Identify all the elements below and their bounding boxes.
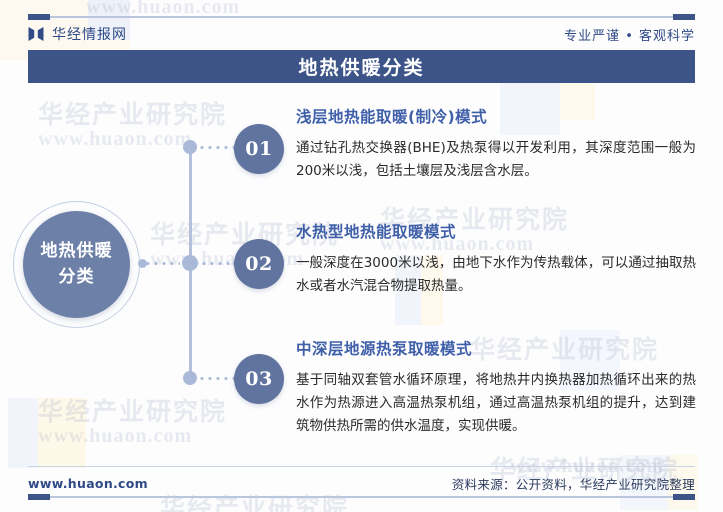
- slide-page: www.huaon.com 华经产业研究院 www.huaon.com 华经产业…: [0, 0, 723, 512]
- hub-circle: 地热供暖 分类: [23, 211, 130, 318]
- connector-dotted-line: [198, 146, 236, 149]
- connector-node: [183, 371, 197, 385]
- hub-label-line1: 地热供暖: [41, 239, 113, 265]
- item-block-02: 水热型地热能取暖模式 一般深度在3000米以浅，由地下水作为传热载体，可以通过抽…: [296, 220, 696, 298]
- diagram: 地热供暖 分类 01 02 03 浅层地热能取暖(制冷)模式 通过钻孔热交换器(…: [0, 83, 723, 458]
- item-title: 水热型地热能取暖模式: [296, 220, 696, 242]
- hub-label-line2: 分类: [59, 265, 95, 291]
- connector-dotted-line: [198, 377, 236, 380]
- brand: 华经情报网: [28, 24, 127, 44]
- title-band: 地热供暖分类: [28, 50, 695, 83]
- item-block-01: 浅层地热能取暖(制冷)模式 通过钻孔热交换器(BHE)及热泵得以开发利用，其深度…: [296, 105, 696, 183]
- page-title: 地热供暖分类: [298, 53, 424, 80]
- footer-site-url[interactable]: www.huaon.com: [28, 476, 148, 491]
- item-title: 中深层地源热泵取暖模式: [296, 337, 696, 359]
- bowtie-logo-icon: [28, 26, 44, 42]
- connector-dotted-line: [144, 262, 180, 265]
- item-body: 一般深度在3000米以浅，由地下水作为传热载体，可以通过抽取热水或者水汽混合物提…: [296, 252, 696, 298]
- item-number-badge-03: 03: [234, 354, 284, 404]
- bottom-divider: [28, 496, 695, 498]
- top-divider: [28, 16, 695, 18]
- item-number-badge-01: 01: [234, 124, 284, 174]
- connector-node: [183, 140, 197, 154]
- item-block-03: 中深层地源热泵取暖模式 基于同轴双套管水循环原理，将地热井内换热器加热循环出来的…: [296, 337, 696, 439]
- item-number-label: 02: [245, 253, 272, 275]
- item-number-badge-02: 02: [234, 239, 284, 289]
- page-header: 华经情报网 专业严谨 • 客观科学: [28, 20, 695, 48]
- item-body: 基于同轴双套管水循环原理，将地热井内换热器加热循环出来的热水作为热源进入高温热泵…: [296, 369, 696, 439]
- header-slogan: 专业严谨 • 客观科学: [564, 25, 695, 44]
- connector-dotted-line: [200, 262, 236, 265]
- page-footer: www.huaon.com 资料来源：公开资料，华经产业研究院整理: [28, 472, 695, 494]
- item-title: 浅层地热能取暖(制冷)模式: [296, 105, 696, 127]
- brand-name: 华经情报网: [52, 24, 127, 44]
- footer-divider: [28, 466, 695, 467]
- item-number-label: 01: [245, 138, 272, 160]
- connector-dot: [138, 259, 147, 268]
- footer-source-note: 资料来源：公开资料，华经产业研究院整理: [452, 474, 695, 493]
- item-number-label: 03: [245, 368, 272, 390]
- connector-node: [182, 255, 198, 271]
- item-body: 通过钻孔热交换器(BHE)及热泵得以开发利用，其深度范围一般为200米以浅，包括…: [296, 137, 696, 183]
